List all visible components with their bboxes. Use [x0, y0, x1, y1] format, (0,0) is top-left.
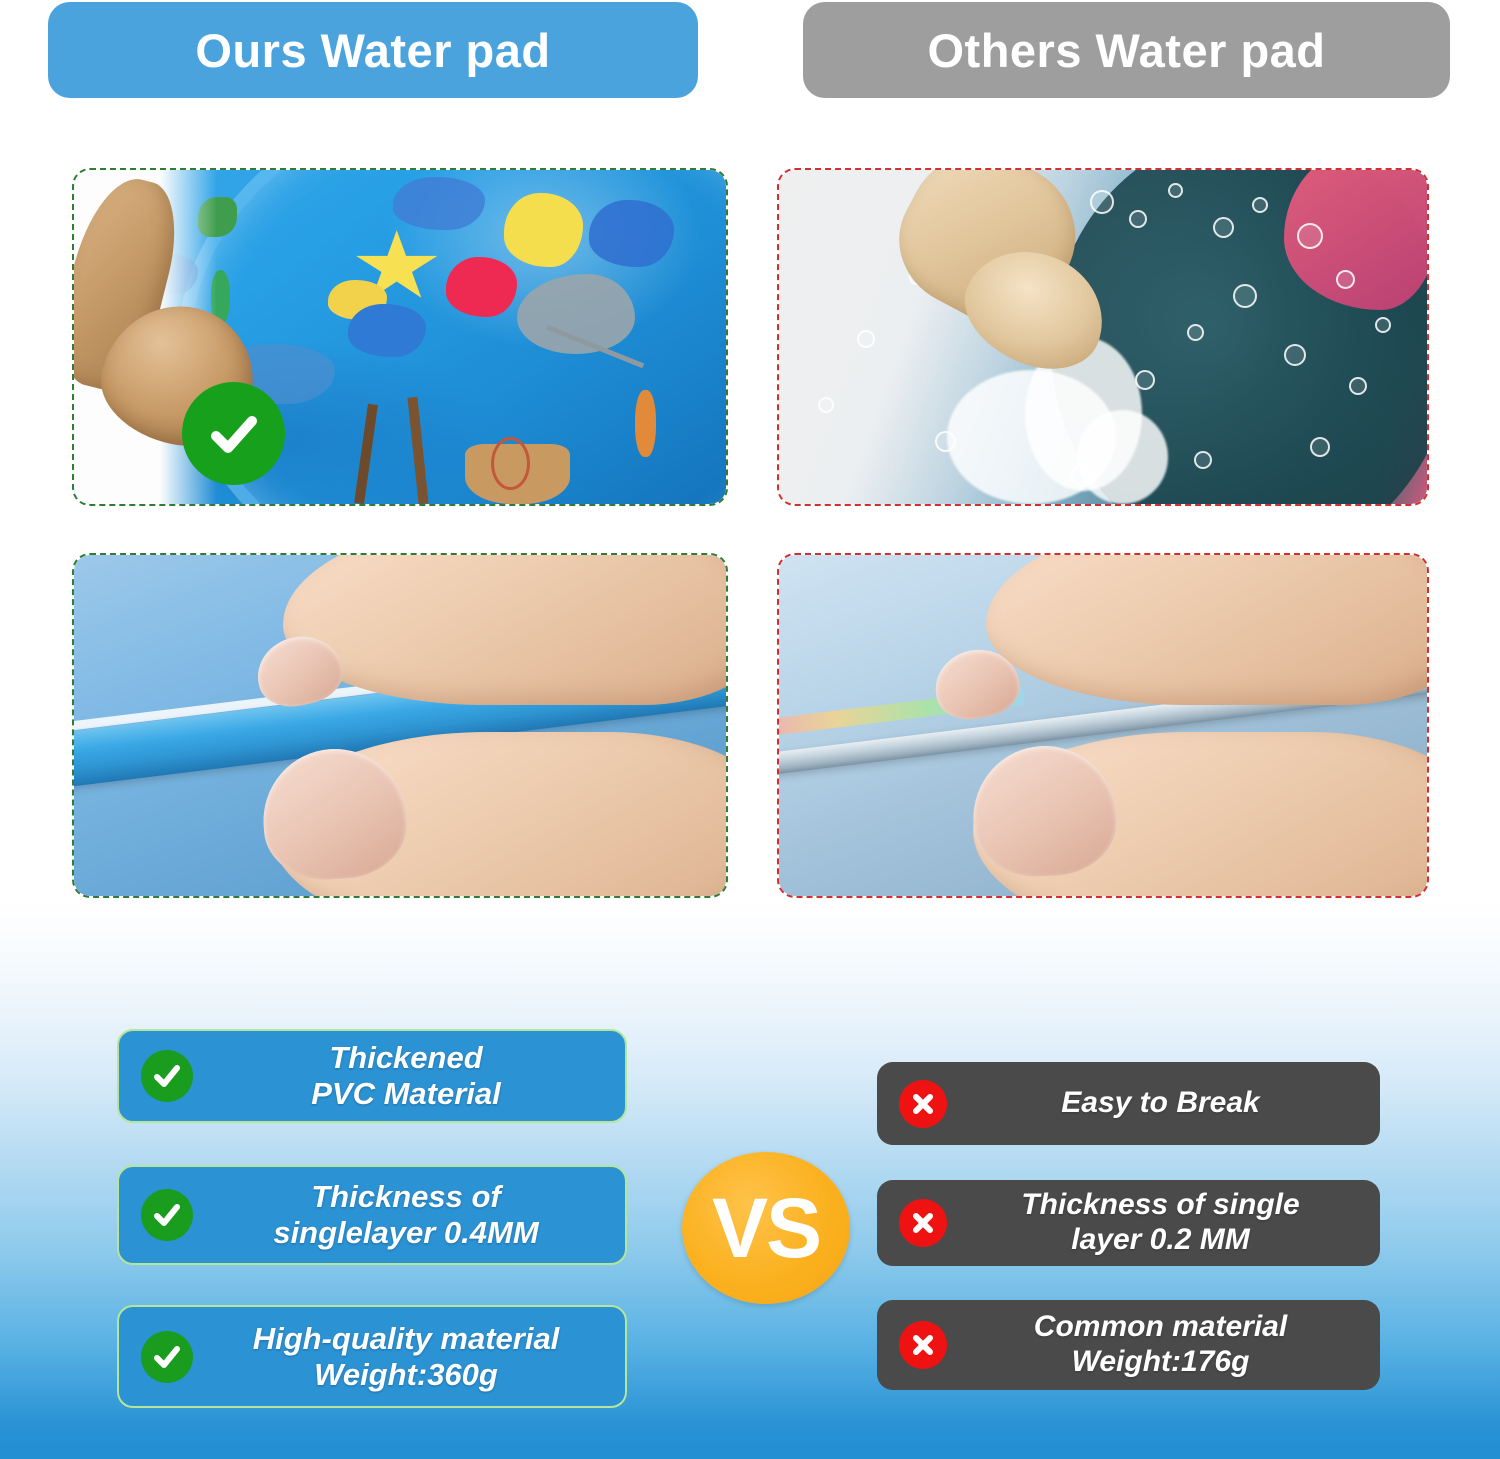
ours-feature-row-2: Thickness of singlelayer 0.4MM: [117, 1165, 627, 1265]
sea-creature-yellow-blob: [504, 193, 582, 266]
bubble: [1213, 217, 1234, 238]
ours-feature-label-1: Thickened PVC Material: [193, 1040, 625, 1112]
bubble: [1375, 317, 1391, 333]
ours-header-label: Ours Water pad: [195, 23, 550, 78]
ours-feature-row-3: High-quality material Weight:360g: [117, 1305, 627, 1408]
ours-feature-row-1: Thickened PVC Material: [117, 1029, 627, 1123]
sunken-ship-rope: [491, 437, 530, 490]
water-mat-scene: [74, 170, 726, 504]
leaking-pad-scene: [779, 170, 1427, 504]
others-feature-row-1: Easy to Break: [877, 1062, 1380, 1145]
ours-header-banner: Ours Water pad: [48, 2, 698, 98]
check-badge: [182, 382, 285, 485]
bubble: [1233, 284, 1257, 308]
vs-badge: VS: [682, 1152, 850, 1304]
cat-paw: [883, 170, 1155, 377]
others-header-label: Others Water pad: [928, 23, 1326, 78]
photo-ours-thick-edge: [72, 553, 728, 898]
others-feature-row-3: Common material Weight:176g: [877, 1300, 1380, 1390]
cross-icon: [899, 1080, 947, 1128]
check-icon: [141, 1189, 193, 1241]
photo-inner: [779, 170, 1427, 504]
vs-label: VS: [712, 1186, 820, 1270]
photo-inner: [74, 170, 726, 504]
thin-pad-pinch-scene: [779, 555, 1427, 896]
cross-icon: [899, 1199, 947, 1247]
sea-creature-seahorse-right: [635, 390, 656, 457]
bubble: [935, 431, 956, 452]
photo-inner: [779, 555, 1427, 896]
photo-inner: [74, 555, 726, 896]
check-icon: [141, 1331, 193, 1383]
ours-feature-label-2: Thickness of singlelayer 0.4MM: [193, 1179, 625, 1251]
photo-others-water-pad-leaking: [777, 168, 1429, 506]
others-feature-label-3: Common material Weight:176g: [947, 1310, 1380, 1380]
sea-creature-blue-whale: [393, 177, 484, 230]
bubble: [857, 330, 875, 348]
bubble: [1284, 344, 1306, 366]
cross-icon: [899, 1321, 947, 1369]
bubble: [1071, 464, 1094, 487]
check-icon: [141, 1050, 193, 1102]
ours-feature-label-3: High-quality material Weight:360g: [193, 1321, 625, 1393]
comparison-infographic: Ours Water pad Others Water pad: [0, 0, 1500, 1459]
bubble: [1194, 451, 1212, 469]
finger-upper: [283, 555, 726, 705]
others-feature-label-2: Thickness of single layer 0.2 MM: [947, 1188, 1380, 1258]
bubble: [818, 397, 834, 413]
water-splash-c: [1077, 410, 1168, 504]
bubble: [1252, 197, 1268, 213]
sea-creature-blue-fish: [348, 304, 426, 357]
photo-ours-water-pad-intact: [72, 168, 728, 506]
others-feature-row-2: Thickness of single layer 0.2 MM: [877, 1180, 1380, 1266]
sea-creature-blue-right: [589, 200, 674, 267]
sea-creature-red-fish: [446, 257, 518, 317]
thick-pad-pinch-scene: [74, 555, 726, 896]
finger-upper: [986, 555, 1427, 705]
others-header-banner: Others Water pad: [803, 2, 1450, 98]
bubble: [1187, 324, 1204, 341]
others-feature-label-1: Easy to Break: [947, 1086, 1380, 1121]
photo-others-thin-edge: [777, 553, 1429, 898]
